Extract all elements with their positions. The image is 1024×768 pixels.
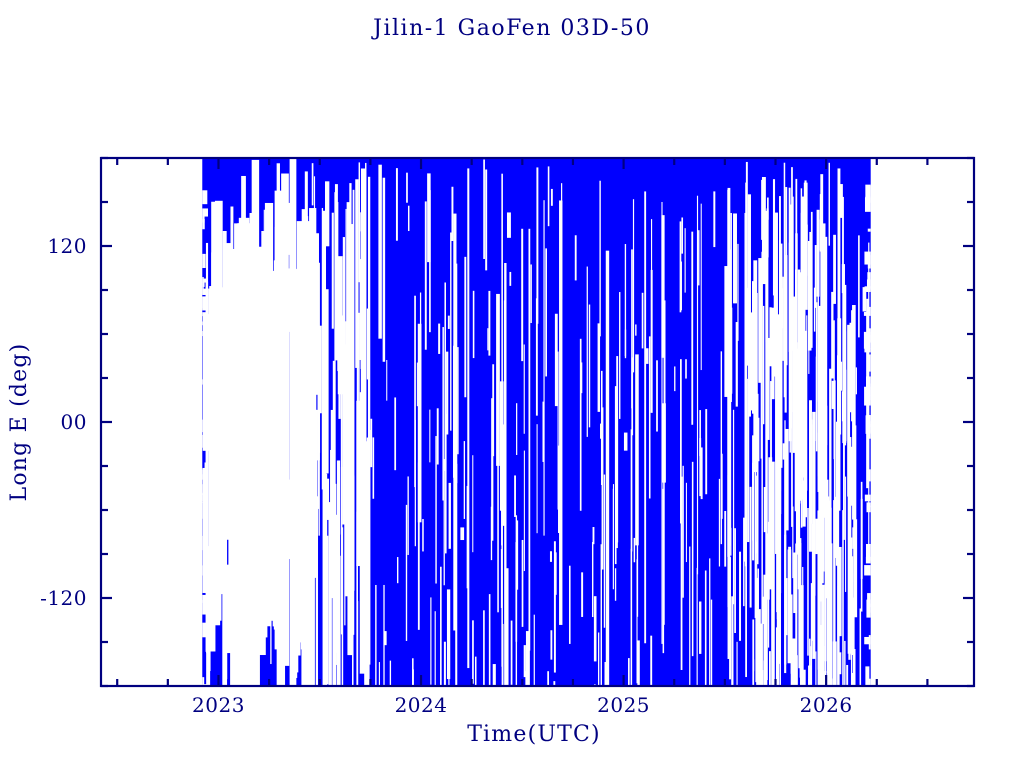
x-tick-label: 2023: [192, 693, 245, 717]
longitude-vs-time-plot: Time(UTC) Long E (deg) 12000-12020232024…: [0, 0, 1024, 768]
y-tick-label: 00: [61, 410, 87, 434]
data-series-longitude: [202, 158, 870, 689]
y-tick-label: 120: [47, 234, 87, 258]
x-tick-label: 2024: [395, 693, 448, 717]
x-tick-label: 2025: [597, 693, 650, 717]
x-axis-label: Time(UTC): [467, 722, 601, 747]
y-axis-label: Long E (deg): [7, 343, 32, 502]
y-tick-label: -120: [40, 586, 87, 610]
figure-root: Jilin-1 GaoFen 03D-50 Time(UTC) Long E (…: [0, 0, 1024, 768]
x-tick-label: 2026: [800, 693, 853, 717]
